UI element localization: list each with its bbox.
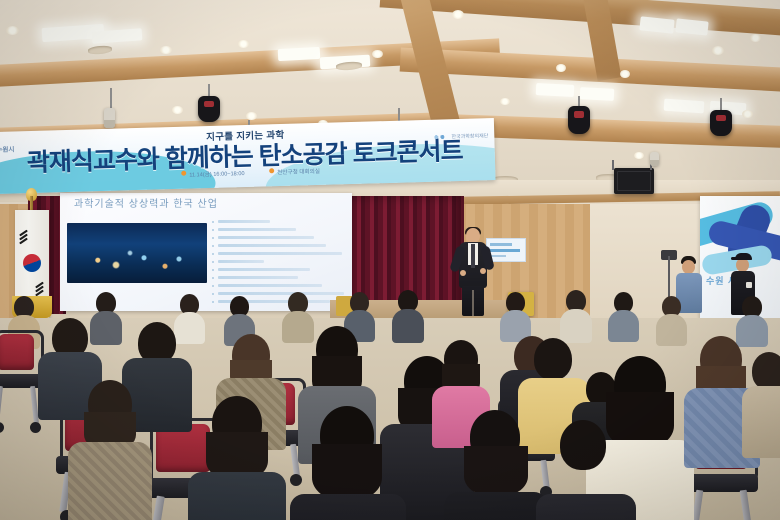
presenter-head — [466, 228, 480, 243]
camera-tripod — [668, 256, 670, 300]
slide-bullet-dot — [212, 277, 214, 279]
slide-bullet — [218, 220, 270, 223]
staff-badge — [746, 282, 752, 288]
torso — [174, 312, 205, 344]
slide-bullet-dot — [212, 237, 214, 239]
banner-datetime: 11.14(금) 16:00~18:00 — [189, 169, 244, 179]
stage-light — [198, 96, 220, 122]
slide-bullet — [218, 292, 344, 295]
light-rod — [110, 88, 112, 110]
wall-speaker — [614, 168, 654, 194]
recessed-downlight — [620, 70, 630, 78]
speaker-bracket — [612, 160, 614, 170]
slide-bullet-dot — [212, 269, 214, 271]
chair-back — [0, 334, 34, 370]
staff-cap — [735, 253, 752, 260]
ceiling-beam — [380, 0, 780, 37]
slide-bullet-dot — [212, 261, 214, 263]
head — [534, 338, 572, 380]
slide-bullet — [218, 268, 310, 271]
recessed-downlight — [500, 98, 510, 105]
torso — [536, 494, 636, 520]
slide-bullet — [218, 284, 322, 287]
lecture-hall-photo: 과학기술적 상상력과 한국 산업 수원시 지구를 지키는 과학 곽재식교수와 함… — [0, 0, 780, 520]
recessed-downlight — [452, 10, 464, 19]
recessed-downlight — [712, 46, 724, 55]
torso — [392, 309, 424, 343]
staff-head — [682, 260, 695, 274]
ceiling-panel-light — [675, 18, 708, 35]
chair-caster — [290, 474, 302, 486]
banner-sponsor-logo: 한국과학창의재단 — [433, 132, 488, 141]
ceiling-panel-light — [92, 28, 143, 43]
torso — [68, 442, 152, 520]
slide-bullet — [218, 228, 296, 231]
hair — [312, 444, 382, 500]
slide-bullet-dot — [212, 253, 214, 255]
slide-bullet — [218, 236, 314, 239]
torso — [90, 311, 122, 345]
ceiling-panel-light — [664, 99, 705, 114]
recessed-downlight — [750, 34, 761, 42]
banner-left-tag: 수원시 — [0, 143, 15, 153]
recessed-downlight — [238, 40, 249, 48]
recessed-downlight — [160, 46, 172, 54]
recessed-downlight — [742, 110, 753, 118]
torso — [290, 494, 406, 520]
slide-bullet-dot — [212, 245, 214, 247]
torso — [742, 386, 780, 458]
slide-bullet-dot — [212, 285, 214, 287]
torso — [656, 314, 687, 346]
slide-bullet-dot — [212, 221, 214, 223]
sign-line — [490, 243, 512, 246]
ceiling-panel-light — [536, 83, 575, 97]
presenter-right-hand — [480, 268, 486, 274]
ceiling-beam — [400, 48, 780, 93]
sign-line — [490, 249, 520, 252]
chair-caster — [30, 422, 41, 433]
presenter-leg-gap — [472, 290, 474, 316]
slide-bullet — [218, 276, 298, 279]
head — [752, 352, 780, 390]
taeguk-circle — [23, 254, 41, 272]
recessed-downlight — [6, 26, 19, 35]
torso — [560, 309, 592, 343]
torso — [188, 472, 286, 520]
stage-light — [710, 110, 732, 136]
banner-venue: 천안구청 대회의실 — [277, 167, 320, 176]
hair — [464, 446, 528, 496]
banner-bullet-dot — [269, 168, 274, 173]
ceiling-vent — [88, 45, 113, 55]
recessed-downlight — [372, 50, 383, 58]
slide-title: 과학기술적 상상력과 한국 산업 — [74, 195, 218, 210]
ceiling-panel-light — [580, 87, 615, 101]
slide-bullet-dot — [212, 301, 214, 303]
ceiling-panel-light — [639, 16, 674, 33]
torso — [608, 310, 639, 342]
slide-photo — [67, 223, 207, 283]
head — [560, 420, 606, 470]
stage-light — [568, 106, 590, 134]
sign-line — [490, 255, 506, 257]
stage-light-small — [104, 108, 115, 128]
torso — [444, 492, 548, 520]
recessed-downlight — [246, 112, 257, 120]
torso — [736, 315, 768, 347]
ceiling-vent — [336, 61, 362, 71]
sponsor-name: 한국과학창의재단 — [451, 133, 488, 140]
recessed-downlight — [556, 64, 566, 72]
presenter-left-hand — [460, 270, 466, 276]
slide-bullet-dot — [212, 293, 214, 295]
slide-bullet — [218, 244, 326, 247]
presenter — [455, 228, 491, 314]
slide-bullet-dot — [212, 229, 214, 231]
ceiling-panel-light — [278, 47, 321, 61]
slide-bullet — [218, 260, 264, 263]
torso — [282, 311, 314, 343]
staff-head — [736, 258, 749, 272]
slide-bullet — [218, 252, 342, 255]
wall-small-light — [650, 152, 659, 166]
recessed-downlight — [634, 152, 644, 159]
presenter-tie — [471, 244, 475, 268]
logo-dots-icon — [433, 134, 449, 139]
recessed-downlight — [172, 106, 183, 114]
